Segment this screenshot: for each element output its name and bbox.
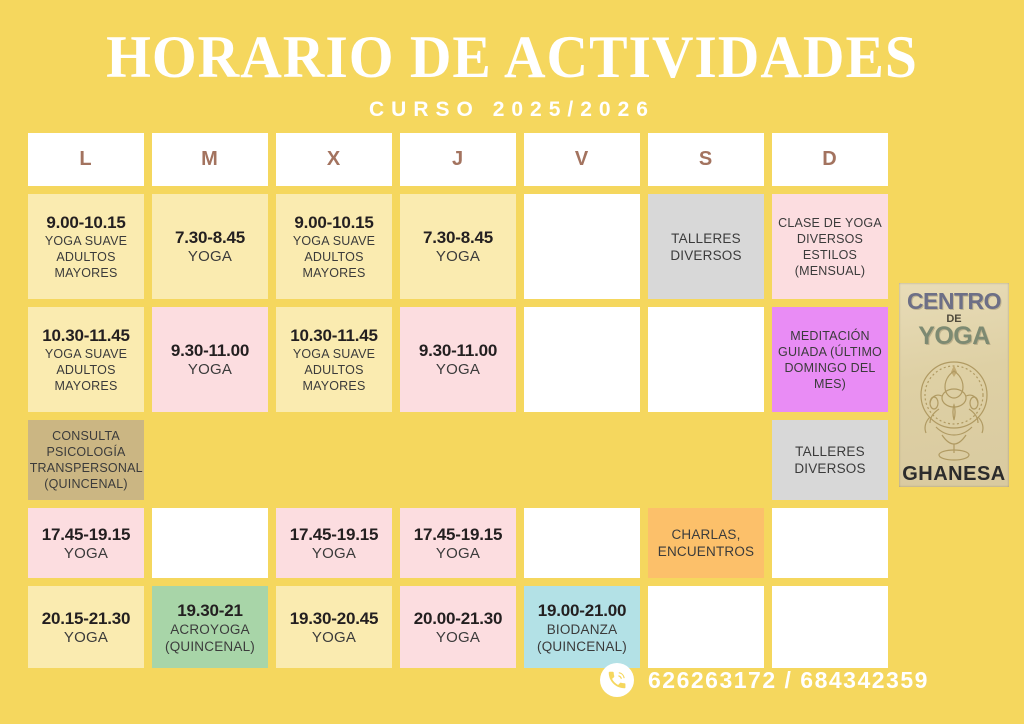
cell-time: 9.00-10.15: [46, 212, 125, 233]
schedule-row: CONSULTA PSICOLOGÍA TRANSPERSONAL (QUINC…: [28, 420, 888, 500]
schedule-row: 9.00-10.15 YOGA SUAVE ADULTOS MAYORES 7.…: [28, 194, 888, 299]
schedule-grid: L M X J V S D 9.00-10.15 YOGA SUAVE ADUL…: [28, 133, 888, 676]
cell-activity: YOGA SUAVE ADULTOS MAYORES: [33, 233, 139, 281]
page-header: HORARIO DE ACTIVIDADES CURSO 2025/2026: [0, 0, 1024, 122]
cell-activity: YOGA SUAVE ADULTOS MAYORES: [33, 346, 139, 394]
cell-activity: YOGA SUAVE ADULTOS MAYORES: [281, 233, 387, 281]
cell-time: 7.30-8.45: [175, 227, 245, 248]
cell-activity: CLASE DE YOGA DIVERSOS ESTILOS (MENSUAL): [777, 215, 883, 279]
schedule-cell[interactable]: 19.30-20.45 YOGA: [276, 586, 392, 668]
phone-numbers: 626263172 / 684342359: [648, 667, 929, 694]
schedule-cell-empty: [152, 420, 268, 500]
schedule-cell-empty: [648, 420, 764, 500]
weekday-header-v: V: [524, 133, 640, 186]
schedule-cell-empty[interactable]: [648, 586, 764, 668]
cell-time: 20.00-21.30: [414, 608, 503, 629]
cell-activity: YOGA SUAVE ADULTOS MAYORES: [281, 346, 387, 394]
weekday-label: J: [452, 148, 464, 171]
cell-activity: BIODANZA (QUINCENAL): [529, 621, 635, 655]
schedule-cell[interactable]: 20.00-21.30 YOGA: [400, 586, 516, 668]
cell-activity: YOGA: [188, 248, 232, 266]
cell-time: 19.00-21.00: [538, 600, 627, 621]
cell-time: 17.45-19.15: [290, 524, 379, 545]
schedule-cell[interactable]: 17.45-19.15 YOGA: [28, 508, 144, 578]
schedule-cell[interactable]: 9.30-11.00 YOGA: [152, 307, 268, 412]
ganesha-icon: [899, 351, 1009, 463]
weekday-label: M: [201, 148, 219, 171]
cell-time: 17.45-19.15: [414, 524, 503, 545]
schedule-cell-empty[interactable]: [524, 508, 640, 578]
schedule-cell[interactable]: 7.30-8.45 YOGA: [400, 194, 516, 299]
schedule-cell-empty: [400, 420, 516, 500]
cell-activity: YOGA: [436, 248, 480, 266]
page-title: HORARIO DE ACTIVIDADES: [20, 26, 1003, 88]
cell-activity: YOGA: [64, 629, 108, 647]
weekday-header-m: M: [152, 133, 268, 186]
contact-footer: 626263172 / 684342359: [600, 663, 929, 697]
schedule-row: 17.45-19.15 YOGA 17.45-19.15 YOGA 17.45-…: [28, 508, 888, 578]
cell-time: 9.30-11.00: [171, 340, 249, 361]
weekday-header-l: L: [28, 133, 144, 186]
cell-activity: YOGA: [436, 545, 480, 563]
weekday-label: X: [327, 148, 341, 171]
schedule-cell-empty[interactable]: [524, 307, 640, 412]
schedule-cell-empty: [524, 420, 640, 500]
schedule-cell[interactable]: 17.45-19.15 YOGA: [400, 508, 516, 578]
phone-icon: [600, 663, 634, 697]
cell-activity: CONSULTA PSICOLOGÍA TRANSPERSONAL (QUINC…: [30, 428, 143, 492]
schedule-row: 20.15-21.30 YOGA 19.30-21 ACROYOGA (QUIN…: [28, 586, 888, 668]
weekday-header-s: S: [648, 133, 764, 186]
schedule-cell[interactable]: 10.30-11.45 YOGA SUAVE ADULTOS MAYORES: [28, 307, 144, 412]
cell-activity: ACROYOGA (QUINCENAL): [157, 621, 263, 655]
cell-time: 19.30-20.45: [290, 608, 379, 629]
schedule-cell[interactable]: 9.00-10.15 YOGA SUAVE ADULTOS MAYORES: [28, 194, 144, 299]
cell-activity: YOGA: [436, 361, 480, 379]
cell-activity: YOGA: [312, 629, 356, 647]
cell-activity: YOGA: [312, 545, 356, 563]
cell-time: 19.30-21: [177, 600, 243, 621]
schedule-cell[interactable]: TALLERES DIVERSOS: [648, 194, 764, 299]
schedule-cell-empty[interactable]: [772, 586, 888, 668]
schedule-cell-empty: [276, 420, 392, 500]
cell-time: 9.00-10.15: [294, 212, 373, 233]
schedule-cell[interactable]: 17.45-19.15 YOGA: [276, 508, 392, 578]
schedule-cell[interactable]: 20.15-21.30 YOGA: [28, 586, 144, 668]
cell-activity: TALLERES DIVERSOS: [653, 230, 759, 264]
schedule-cell-empty[interactable]: [772, 508, 888, 578]
cell-activity: TALLERES DIVERSOS: [777, 443, 883, 477]
weekday-label: V: [575, 148, 589, 171]
weekday-header-row: L M X J V S D: [28, 133, 888, 186]
cell-activity: YOGA: [188, 361, 232, 379]
cell-time: 7.30-8.45: [423, 227, 493, 248]
schedule-cell[interactable]: 19.00-21.00 BIODANZA (QUINCENAL): [524, 586, 640, 668]
weekday-header-x: X: [276, 133, 392, 186]
cell-time: 10.30-11.45: [42, 325, 130, 346]
cell-activity: CHARLAS, ENCUENTROS: [653, 526, 759, 560]
cell-time: 10.30-11.45: [290, 325, 378, 346]
weekday-header-j: J: [400, 133, 516, 186]
schedule-cell[interactable]: MEDITACIÓN GUIADA (ÚLTIMO DOMINGO DEL ME…: [772, 307, 888, 412]
schedule-cell[interactable]: CLASE DE YOGA DIVERSOS ESTILOS (MENSUAL): [772, 194, 888, 299]
schedule-cell-empty[interactable]: [152, 508, 268, 578]
schedule-cell[interactable]: 10.30-11.45 YOGA SUAVE ADULTOS MAYORES: [276, 307, 392, 412]
centro-de-yoga-ghanesa-logo: CENTRO DE YOGA: [899, 283, 1009, 487]
weekday-label: L: [79, 148, 92, 171]
cell-time: 17.45-19.15: [42, 524, 131, 545]
cell-activity: MEDITACIÓN GUIADA (ÚLTIMO DOMINGO DEL ME…: [777, 328, 883, 392]
logo-yoga-text: YOGA: [918, 322, 990, 351]
schedule-cell-empty[interactable]: [524, 194, 640, 299]
cell-activity: YOGA: [436, 629, 480, 647]
schedule-cell[interactable]: 9.00-10.15 YOGA SUAVE ADULTOS MAYORES: [276, 194, 392, 299]
schedule-cell-empty[interactable]: [648, 307, 764, 412]
cell-activity: YOGA: [64, 545, 108, 563]
schedule-cell[interactable]: CONSULTA PSICOLOGÍA TRANSPERSONAL (QUINC…: [28, 420, 144, 500]
weekday-header-d: D: [772, 133, 888, 186]
cell-time: 20.15-21.30: [42, 608, 131, 629]
schedule-cell[interactable]: 19.30-21 ACROYOGA (QUINCENAL): [152, 586, 268, 668]
schedule-cell[interactable]: 7.30-8.45 YOGA: [152, 194, 268, 299]
logo-ghanesa-text: GHANESA: [902, 463, 1006, 486]
weekday-label: S: [699, 148, 713, 171]
schedule-cell[interactable]: 9.30-11.00 YOGA: [400, 307, 516, 412]
schedule-row: 10.30-11.45 YOGA SUAVE ADULTOS MAYORES 9…: [28, 307, 888, 412]
cell-time: 9.30-11.00: [419, 340, 497, 361]
schedule-cell[interactable]: TALLERES DIVERSOS: [772, 420, 888, 500]
page-subtitle: CURSO 2025/2026: [0, 98, 1024, 122]
schedule-cell[interactable]: CHARLAS, ENCUENTROS: [648, 508, 764, 578]
logo-centro-text: CENTRO: [907, 288, 1001, 315]
weekday-label: D: [822, 148, 837, 171]
